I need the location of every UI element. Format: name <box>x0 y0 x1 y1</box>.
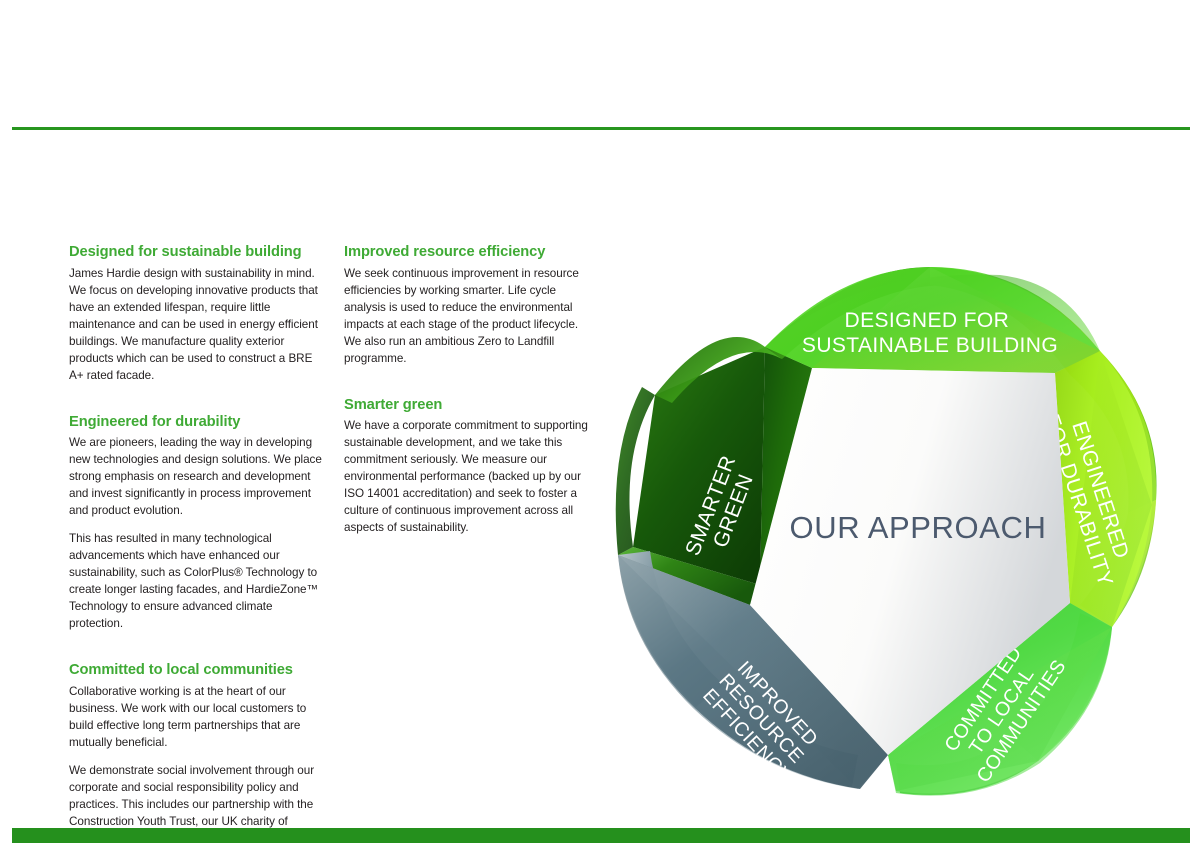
section-paragraph: We seek continuous improvement in resour… <box>344 266 592 368</box>
section-heading: Designed for sustainable building <box>69 243 327 262</box>
spacer <box>69 650 327 661</box>
top-divider-rule <box>12 127 1190 130</box>
section-heading: Committed to local communities <box>69 661 327 680</box>
section-heading: Smarter green <box>344 396 592 415</box>
section-paragraph: We are pioneers, leading the way in deve… <box>69 435 327 520</box>
section-engineered-for-durability: Engineered for durability We are pioneer… <box>69 413 327 633</box>
section-smarter-green: Smarter green We have a corporate commit… <box>344 396 592 538</box>
section-paragraph: James Hardie design with sustainability … <box>69 266 327 385</box>
section-committed-to-local-communities: Committed to local communities Collabora… <box>69 661 327 848</box>
section-heading: Improved resource efficiency <box>344 243 592 262</box>
section-paragraph: Collaborative working is at the heart of… <box>69 684 327 752</box>
text-column-right: Improved resource efficiency We seek con… <box>344 243 592 554</box>
section-designed-for-sustainable-building: Designed for sustainable building James … <box>69 243 327 385</box>
section-improved-resource-efficiency: Improved resource efficiency We seek con… <box>344 243 592 368</box>
spacer <box>344 385 592 396</box>
our-approach-pentagon-diagram: SMARTER GREEN DESIGNED FOR SUSTAINABLE B… <box>600 255 1180 815</box>
text-column-left: Designed for sustainable building James … <box>69 243 327 865</box>
section-heading: Engineered for durability <box>69 413 327 432</box>
section-paragraph: This has resulted in many technological … <box>69 531 327 633</box>
center-label-our-approach: OUR APPROACH <box>790 510 1047 545</box>
bottom-accent-bar <box>12 828 1190 843</box>
spacer <box>69 402 327 413</box>
section-paragraph: We have a corporate commitment to suppor… <box>344 418 592 537</box>
